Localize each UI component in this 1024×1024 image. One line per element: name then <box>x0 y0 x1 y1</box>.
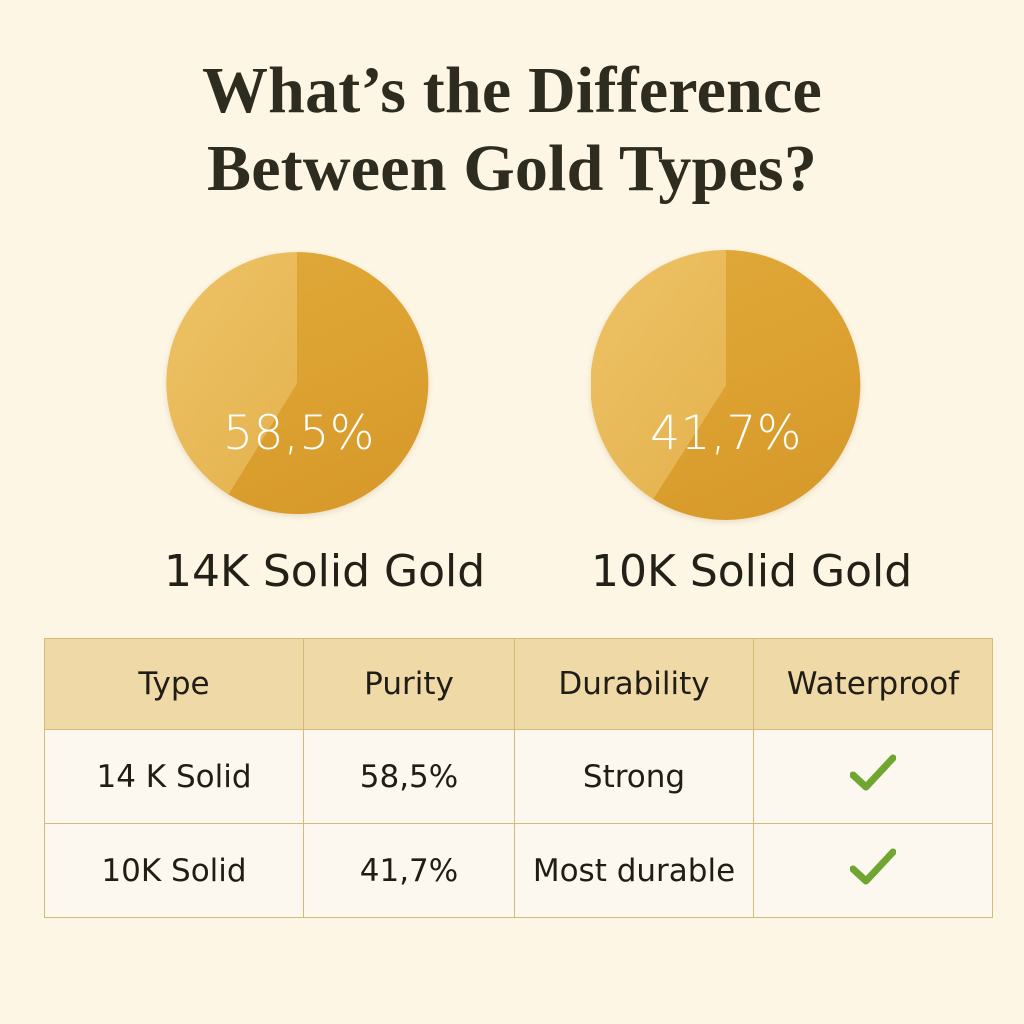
page-title-line-1: What’s the Difference <box>0 52 1024 130</box>
pie-chart-10k: 41,7% 10K Solid Gold <box>591 250 861 520</box>
cell-waterproof <box>754 730 993 824</box>
pie-chart-14k-graphic: 58,5% <box>164 250 434 520</box>
pie-10k-svg <box>591 250 861 520</box>
table-header-durability: Durability <box>515 639 754 730</box>
check-icon <box>850 754 896 792</box>
table-row: 14 K Solid 58,5% Strong <box>45 730 993 824</box>
gold-comparison-table: Type Purity Durability Waterproof 14 K S… <box>44 638 993 918</box>
pie-chart-10k-graphic: 41,7% <box>591 250 861 520</box>
cell-durability: Strong <box>515 730 754 824</box>
pie-14k-svg <box>164 250 434 520</box>
cell-type: 10K Solid <box>45 824 304 918</box>
table-row: 10K Solid 41,7% Most durable <box>45 824 993 918</box>
cell-durability: Most durable <box>515 824 754 918</box>
page-title: What’s the Difference Between Gold Types… <box>0 52 1024 208</box>
cell-waterproof <box>754 824 993 918</box>
table-body: 14 K Solid 58,5% Strong 10K Solid 41,7% … <box>45 730 993 918</box>
pie-chart-row: 58,5% 14K Solid Gold 41,7% <box>0 250 1024 600</box>
cell-type: 14 K Solid <box>45 730 304 824</box>
pie-chart-14k: 58,5% 14K Solid Gold <box>164 250 434 520</box>
table-head: Type Purity Durability Waterproof <box>45 639 993 730</box>
table-header-waterproof: Waterproof <box>754 639 993 730</box>
pie-14k-caption: 14K Solid Gold <box>164 546 434 597</box>
cell-purity: 41,7% <box>304 824 515 918</box>
cell-purity: 58,5% <box>304 730 515 824</box>
table-header-type: Type <box>45 639 304 730</box>
table-header-row: Type Purity Durability Waterproof <box>45 639 993 730</box>
page-title-line-2: Between Gold Types? <box>0 130 1024 208</box>
pie-10k-caption: 10K Solid Gold <box>591 546 861 597</box>
table-header-purity: Purity <box>304 639 515 730</box>
check-icon <box>850 848 896 886</box>
